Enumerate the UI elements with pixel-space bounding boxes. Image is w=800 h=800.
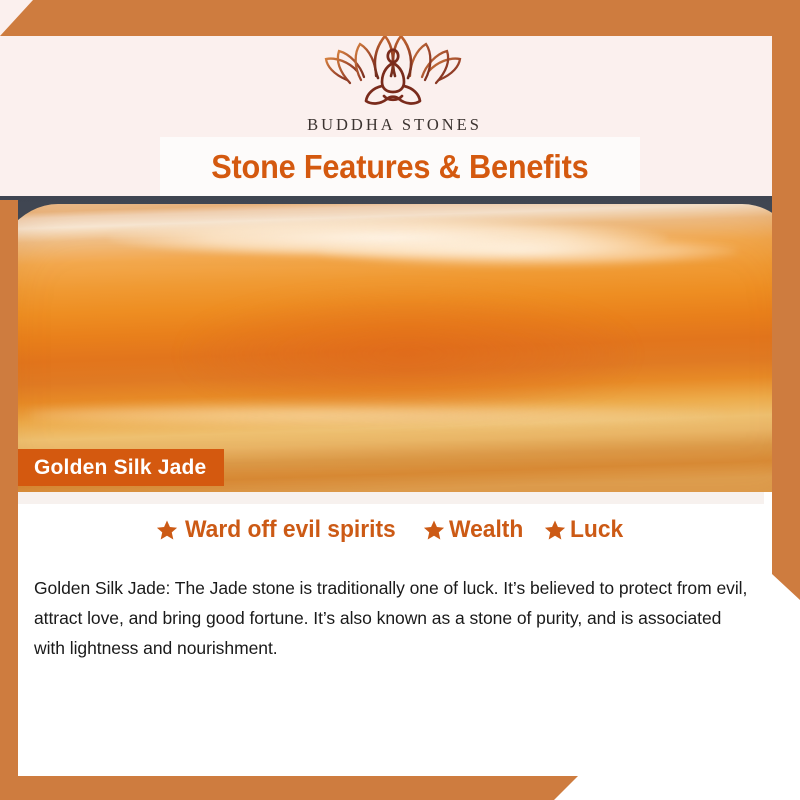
page-title-band: Stone Features & Benefits [160,137,640,196]
brand-wordmark: BUDDHA STONES [304,115,482,135]
benefits-list: Ward off evil spirits Wealth Luck [18,516,764,544]
benefit-label-0: Ward off evil spirits [185,516,396,544]
star-icon [156,519,178,541]
benefit-label-1: Wealth [449,516,523,544]
benefit-item-2: Luck [544,516,626,544]
content-top-divider [18,492,764,504]
content-panel: Ward off evil spirits Wealth Luck [18,492,764,778]
stone-name-label: Golden Silk Jade [34,456,206,480]
stone-vein [28,404,728,426]
benefit-item-0: Ward off evil spirits [156,516,407,544]
benefit-item-1: Wealth [423,516,527,544]
frame-right-bar [772,0,800,600]
frame-bottom-bar [0,776,578,800]
stone-highlight-right [318,236,738,266]
lotus-meditation-icon [323,26,463,112]
frame-top-bar [0,0,800,36]
stone-name-ribbon: Golden Silk Jade [18,449,224,486]
page-title: Stone Features & Benefits [211,148,588,186]
stone-warm-band [188,294,628,414]
brand-logo: BUDDHA STONES [304,26,482,135]
star-icon [423,519,445,541]
frame-left-bar [0,200,18,800]
stone-photo [0,196,800,492]
poster: BUDDHA STONES Stone Features & Benefits … [0,0,800,800]
benefit-label-2: Luck [570,516,623,544]
star-icon [544,519,566,541]
stone-description: Golden Silk Jade: The Jade stone is trad… [34,573,748,663]
